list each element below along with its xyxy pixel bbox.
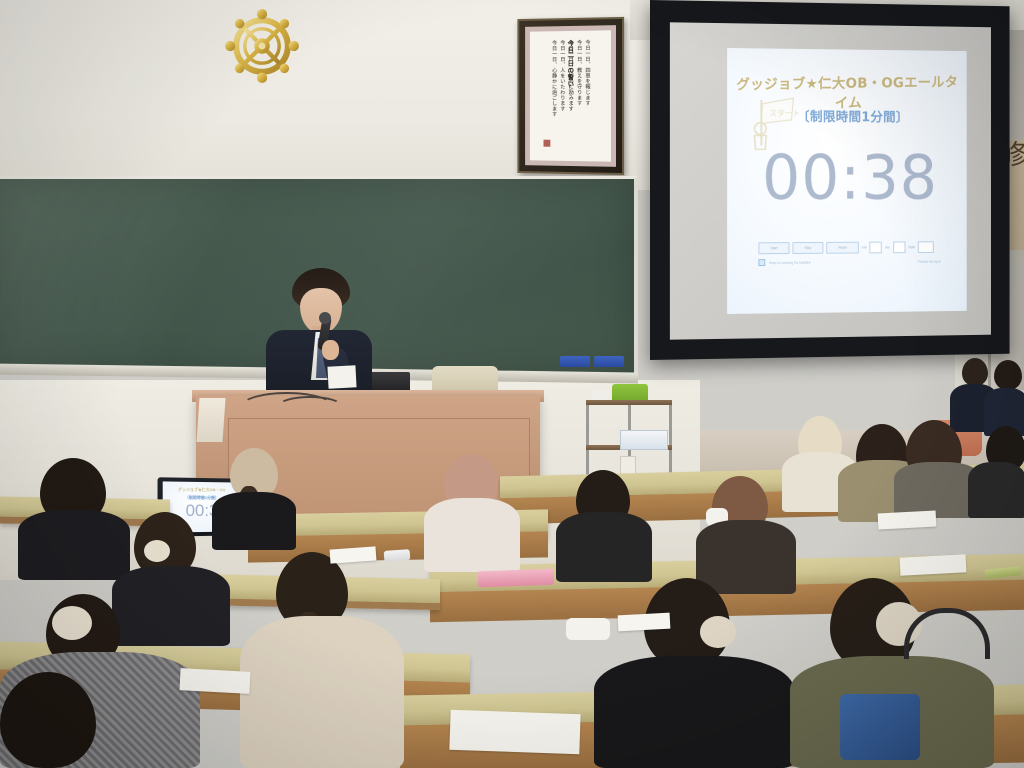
calligraphy-line: 今日一日、心静かに過ごします xyxy=(551,40,556,152)
minutes-label: min xyxy=(862,246,867,250)
handout xyxy=(449,710,580,755)
blackboard-eraser[interactable] xyxy=(594,356,624,367)
projected-slide: グッジョブ★仁大OB・OGエールタイム 〔制限時間1分間〕 スタート 00:38… xyxy=(727,48,967,314)
footnote-left: Keep on counting the headline xyxy=(769,260,811,264)
projector-screen: グッジョブ★仁大OB・OGエールタイム 〔制限時間1分間〕 スタート 00:38… xyxy=(650,0,1010,360)
audience-head xyxy=(0,672,96,768)
chair xyxy=(432,366,498,392)
hair-scrunchie xyxy=(144,540,170,562)
supply-boxes xyxy=(620,430,668,450)
calligraphy-seal xyxy=(544,140,551,147)
audience-body xyxy=(594,656,794,768)
pink-notebook xyxy=(478,569,555,588)
timer-footnotes: Keep on counting the headline Provide me… xyxy=(758,257,940,267)
face-mask xyxy=(566,618,610,640)
screen-surface: グッジョブ★仁大OB・OGエールタイム 〔制限時間1分間〕 スタート 00:38… xyxy=(670,22,991,339)
handout xyxy=(618,613,671,632)
timer-control-bar[interactable]: Start Stop Reset min sec Style xyxy=(758,241,936,254)
calligraphy-line: 今日一日、人をいたわります xyxy=(559,40,564,152)
speaker-hand xyxy=(322,340,339,360)
start-button[interactable]: Start xyxy=(758,242,789,254)
handout xyxy=(878,510,937,529)
calligraphy-paper: 今日一日の誓い 今日一日、四恩を報じます 今日一日、教えを守ります 今日一日、つ… xyxy=(530,30,611,161)
speaker-notes xyxy=(327,365,356,388)
style-label: Style xyxy=(908,245,915,249)
seconds-label: sec xyxy=(885,245,890,249)
cable xyxy=(278,396,342,416)
blue-bag xyxy=(840,694,920,760)
stop-button[interactable]: Stop xyxy=(792,242,823,254)
calligraphy-line: 今日一日、教えを守ります xyxy=(576,40,581,152)
audience-body xyxy=(212,492,296,550)
audience-body xyxy=(112,566,230,646)
podium-cloth xyxy=(196,398,225,442)
microphone-head xyxy=(319,312,331,324)
audience-body xyxy=(968,462,1024,518)
laptop-slide-title: グッジョブ★仁大OB・OG xyxy=(163,487,240,494)
smartphone xyxy=(384,549,411,562)
countdown-timer: 00:38 xyxy=(747,147,953,208)
svg-text:スタート: スタート xyxy=(769,109,800,118)
lecture-hall-photo: 修 xyxy=(0,0,1024,768)
calligraphy-heading: 今日一日の誓い xyxy=(567,40,574,87)
audience-body xyxy=(18,510,130,580)
checkbox-icon[interactable] xyxy=(758,259,765,266)
observer-head xyxy=(962,358,988,386)
audience-body xyxy=(556,512,652,582)
audience-body xyxy=(696,520,796,594)
hair-scrunchie xyxy=(52,606,92,640)
footnote-right: Provide me input xyxy=(918,259,941,263)
blackboard-eraser[interactable] xyxy=(560,356,590,367)
seconds-input[interactable] xyxy=(893,241,905,253)
minutes-input[interactable] xyxy=(870,242,882,254)
audience-body xyxy=(240,616,404,768)
handout xyxy=(900,554,967,575)
framed-calligraphy: 今日一日の誓い 今日一日、四恩を報じます 今日一日、教えを守ります 今日一日、つ… xyxy=(517,17,624,175)
style-select[interactable] xyxy=(918,241,934,253)
reset-button[interactable]: Reset xyxy=(826,242,859,254)
hair-scrunchie xyxy=(700,616,736,648)
handout xyxy=(179,668,250,694)
calligraphy-line: 今日一日、四恩を報じます xyxy=(584,40,589,153)
dharma-wheel-icon xyxy=(216,3,308,89)
observer-head xyxy=(994,360,1022,390)
audience-body xyxy=(424,498,520,572)
